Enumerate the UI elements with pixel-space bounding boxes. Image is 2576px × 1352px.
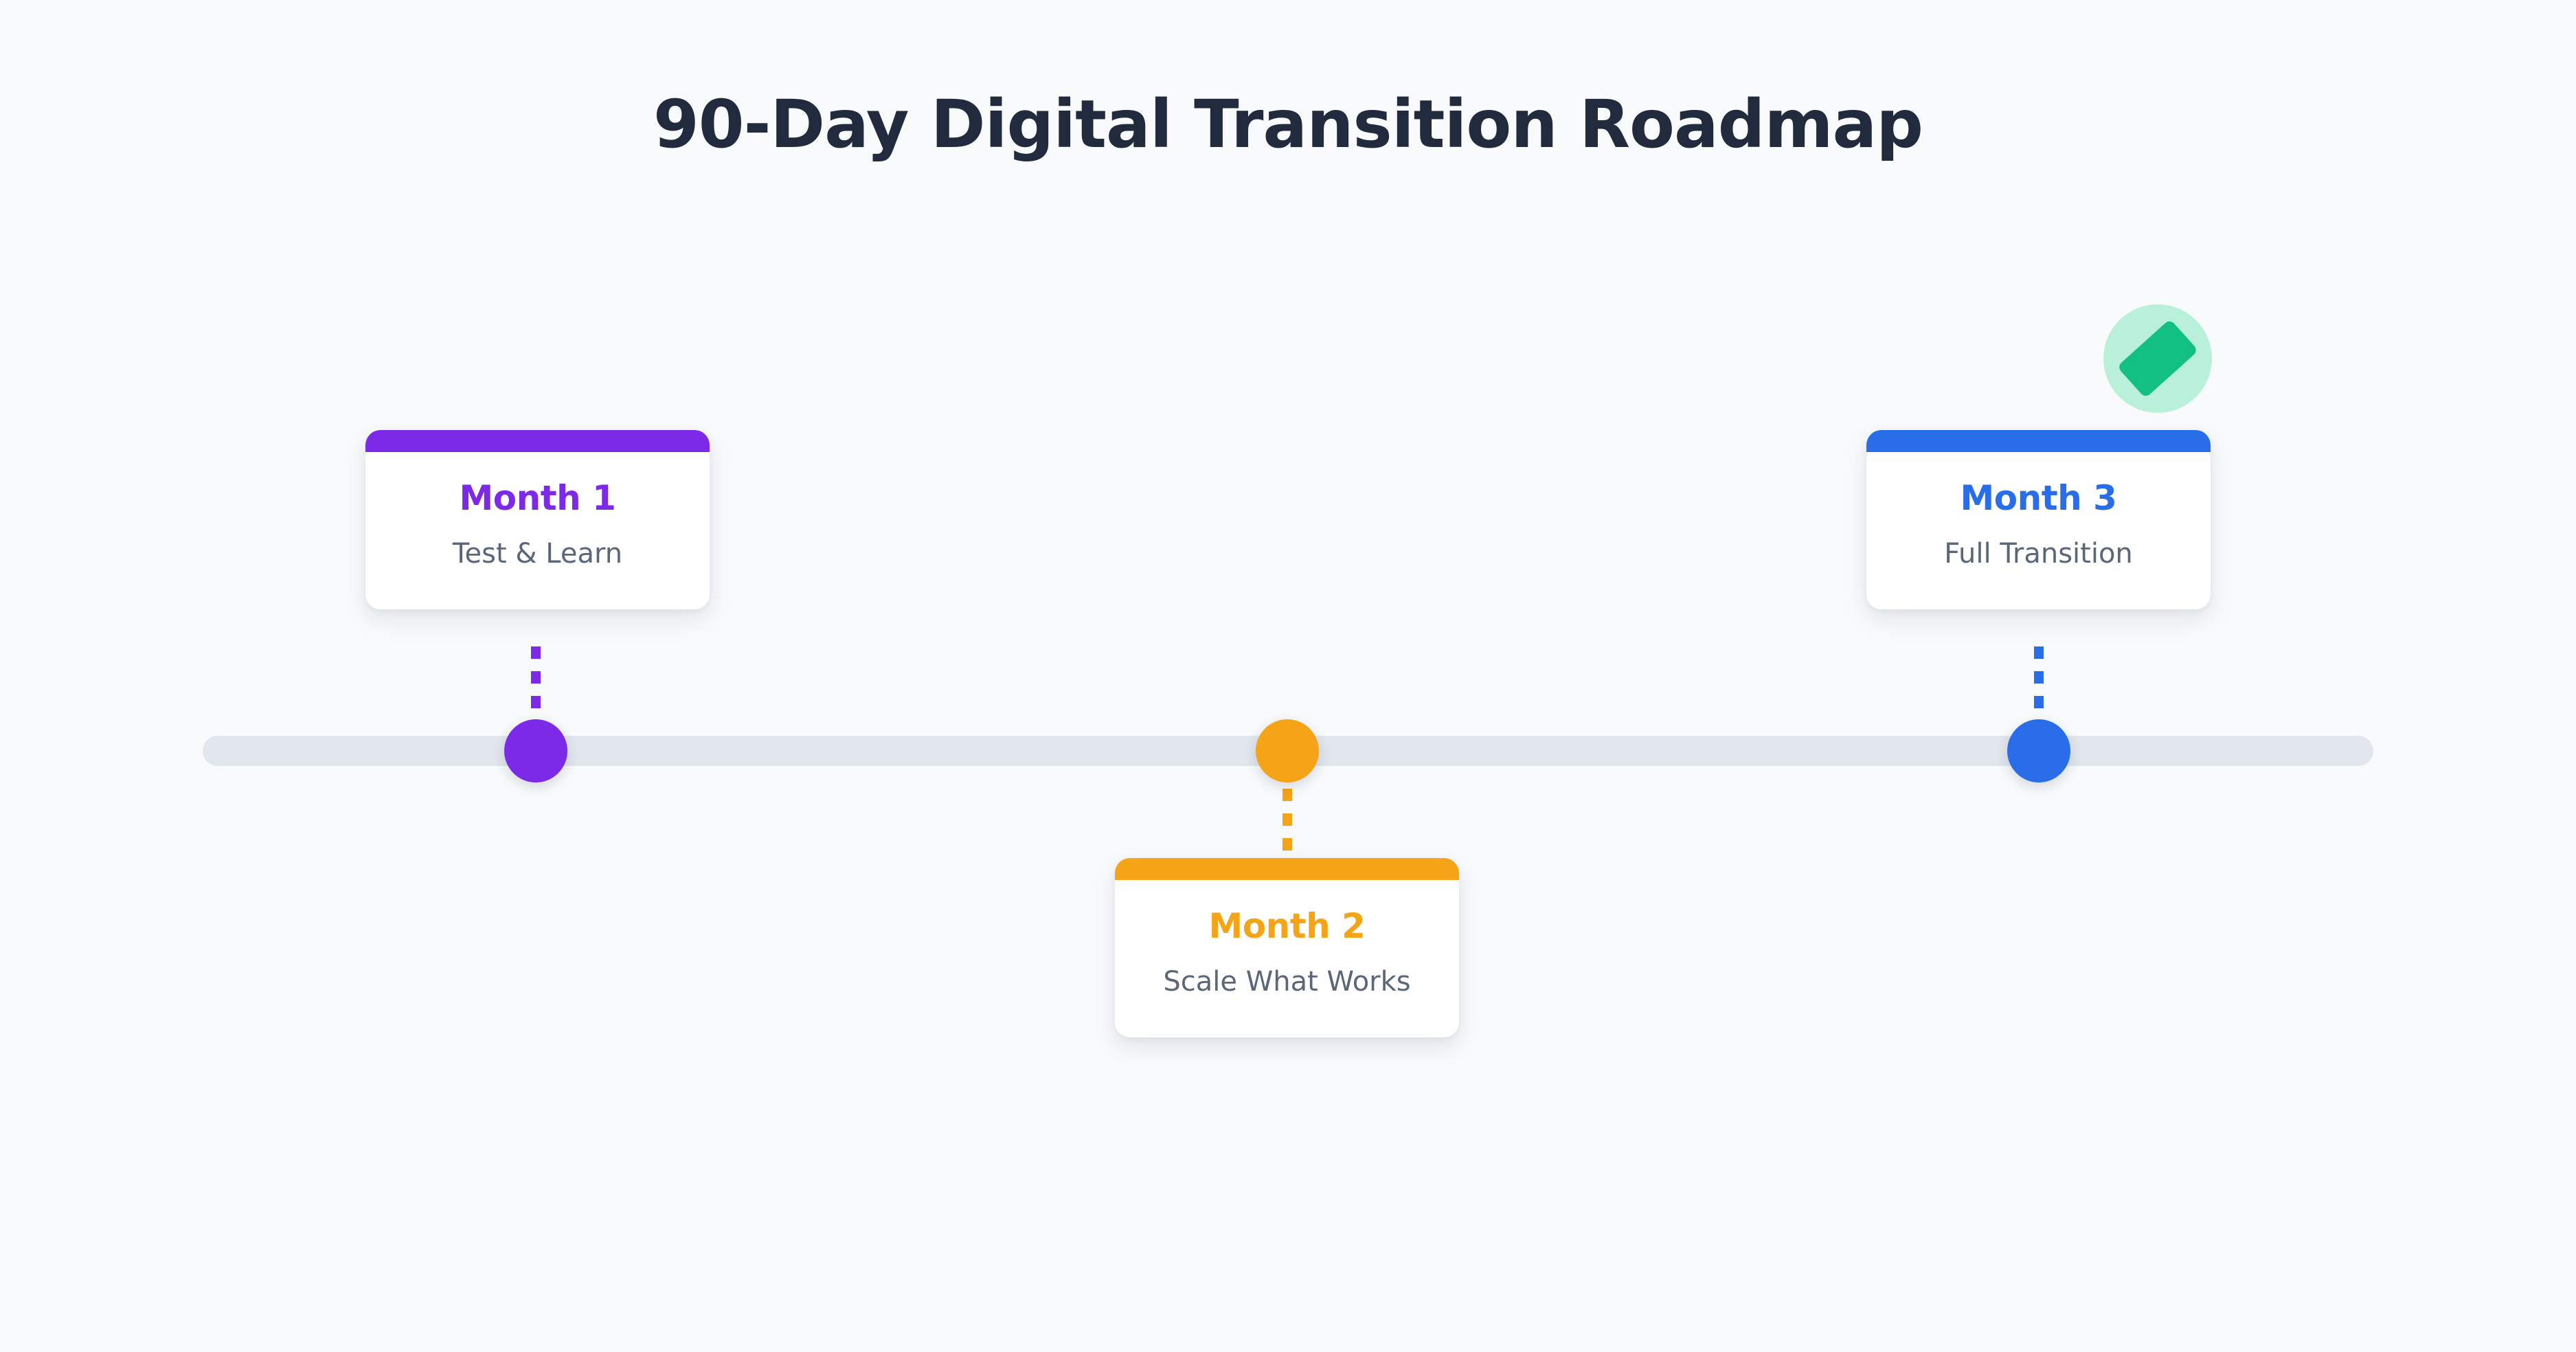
card-accent-bar-month-3 [1866,430,2211,452]
page-title: 90-Day Digital Transition Roadmap [0,88,2576,162]
milestone-card-month-2[interactable]: Month 2 Scale What Works [1115,858,1459,1037]
milestone-dot-month-3[interactable] [2007,719,2070,782]
connector-segment [2034,646,2044,659]
milestone-dot-month-2[interactable] [1256,719,1319,782]
connector-segment [2034,696,2044,708]
completion-badge[interactable] [2103,304,2212,413]
card-description-month-3: Full Transition [1884,538,2193,570]
roadmap-canvas: 90-Day Digital Transition Roadmap Month … [0,0,2576,1352]
card-body-month-1: Month 1 Test & Learn [365,452,710,609]
connector-segment [531,696,541,708]
card-description-month-2: Scale What Works [1133,966,1441,998]
milestone-dot-month-1[interactable] [504,719,567,782]
connector-segment [1283,813,1292,826]
card-accent-bar-month-2 [1115,858,1459,880]
card-month-label-month-3: Month 3 [1884,480,2193,517]
card-description-month-1: Test & Learn [383,538,692,570]
card-accent-bar-month-1 [365,430,710,452]
card-body-month-3: Month 3 Full Transition [1866,452,2211,609]
connector-segment [1283,789,1292,801]
connector-segment [1283,838,1292,850]
milestone-card-month-1[interactable]: Month 1 Test & Learn [365,430,710,609]
card-month-label-month-1: Month 1 [383,480,692,517]
connector-segment [2034,671,2044,684]
diamond-tag-icon [2117,319,2199,398]
card-body-month-2: Month 2 Scale What Works [1115,880,1459,1037]
card-month-label-month-2: Month 2 [1133,908,1441,945]
milestone-card-month-3[interactable]: Month 3 Full Transition [1866,430,2211,609]
connector-segment [531,671,541,684]
connector-segment [531,646,541,659]
